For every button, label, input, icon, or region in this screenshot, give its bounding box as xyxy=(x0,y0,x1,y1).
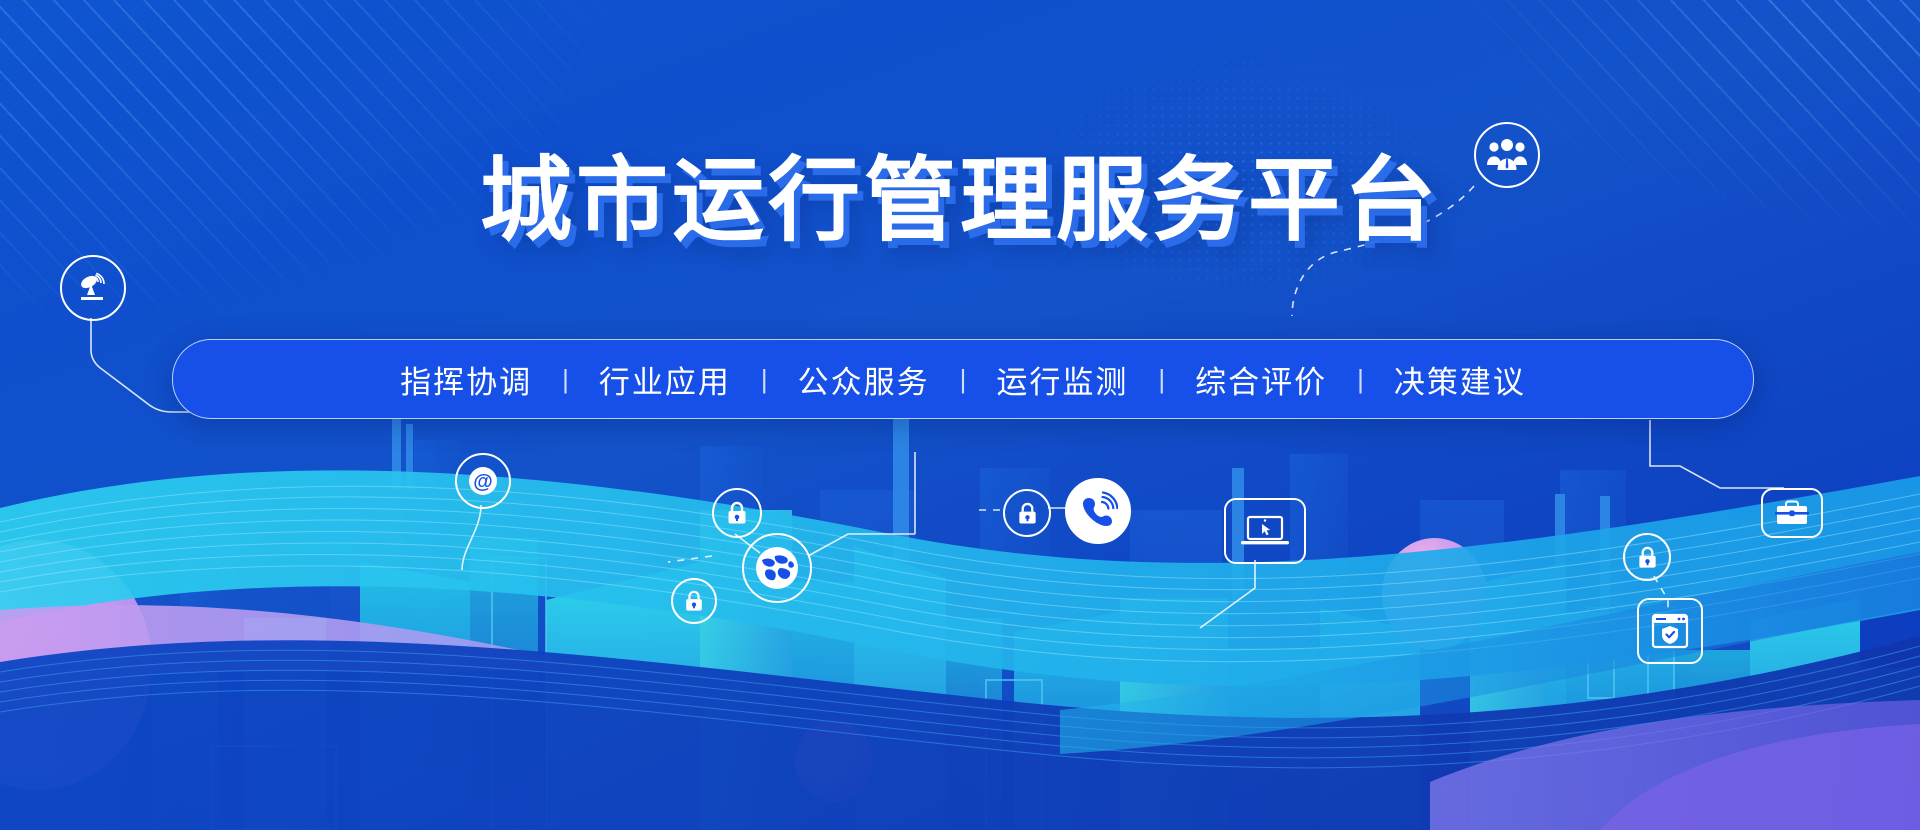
nav-item-comprehensive-evaluation[interactable]: 综合评价 xyxy=(1165,357,1357,402)
satellite-dish-glyph xyxy=(75,270,111,306)
nav-separator: | xyxy=(562,364,569,395)
lock-glyph xyxy=(1636,545,1659,570)
laptop-glyph xyxy=(1239,512,1291,550)
lock-glyph xyxy=(725,500,749,526)
nav-item-decision-advice[interactable]: 决策建议 xyxy=(1364,357,1556,402)
at-sign-glyph: @ xyxy=(466,464,500,498)
nav-separator: | xyxy=(761,364,768,395)
nav-separator: | xyxy=(1357,364,1364,395)
lock-icon-4[interactable] xyxy=(1623,533,1671,581)
wave-illustration xyxy=(0,410,1920,830)
banner-stage: @ xyxy=(0,0,1920,830)
laptop-cursor-icon[interactable] xyxy=(1224,498,1306,564)
briefcase-glyph xyxy=(1773,498,1811,528)
nav-item-command-coordination[interactable]: 指挥协调 xyxy=(370,357,562,402)
lock-glyph xyxy=(1016,501,1039,526)
at-sign-icon[interactable]: @ xyxy=(455,453,511,509)
lock-icon-2[interactable] xyxy=(671,578,717,624)
phone-call-glyph xyxy=(1078,491,1118,531)
lock-icon-1[interactable] xyxy=(712,488,762,538)
lock-icon-3[interactable] xyxy=(1003,489,1051,537)
globe-glyph xyxy=(753,544,801,592)
nav-separator: | xyxy=(1158,364,1165,395)
globe-icon[interactable] xyxy=(742,533,812,603)
satellite-dish-icon[interactable] xyxy=(60,255,126,321)
main-navigation-bar: 指挥协调 | 行业应用 | 公众服务 | 运行监测 | 综合评价 | 决策建议 xyxy=(172,339,1754,419)
phone-call-icon[interactable] xyxy=(1065,478,1131,544)
lock-glyph xyxy=(683,589,705,613)
nav-item-operation-monitoring[interactable]: 运行监测 xyxy=(966,357,1158,402)
svg-text:@: @ xyxy=(473,471,493,493)
page-title: 城市运行管理服务平台 xyxy=(0,152,1920,251)
nav-separator: | xyxy=(960,364,967,395)
nav-item-public-service[interactable]: 公众服务 xyxy=(768,357,960,402)
nav-item-industry-application[interactable]: 行业应用 xyxy=(569,357,761,402)
browser-shield-icon[interactable] xyxy=(1637,598,1703,664)
briefcase-icon[interactable] xyxy=(1761,488,1823,538)
browser-shield-glyph xyxy=(1649,610,1691,652)
